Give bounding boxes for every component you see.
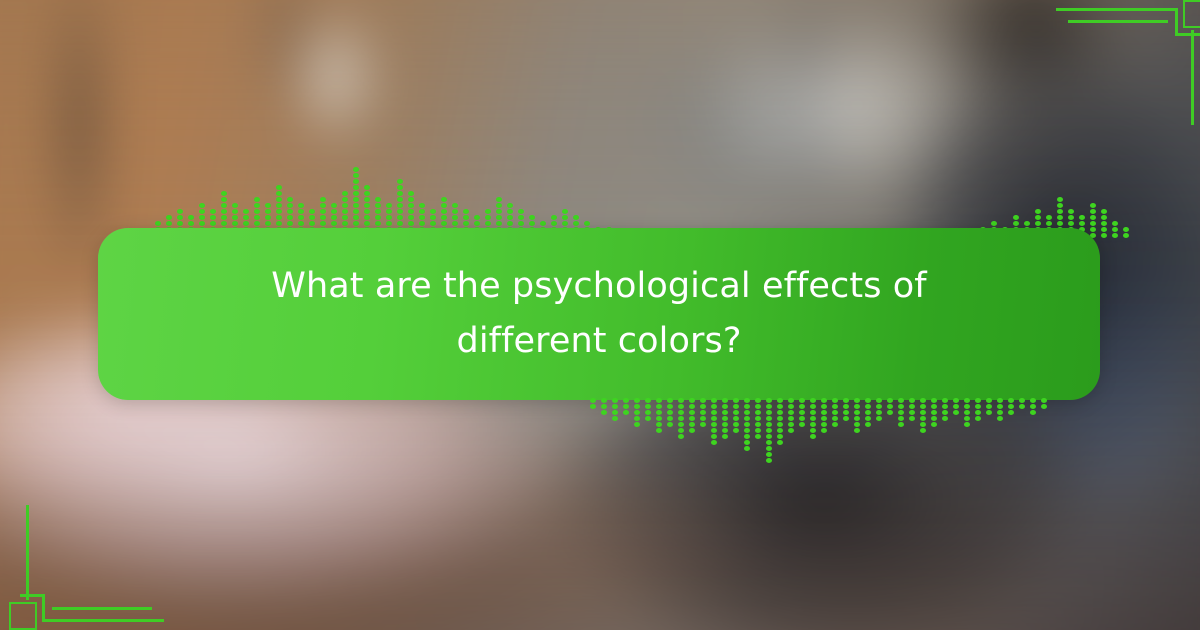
waveform-bar: [722, 398, 728, 439]
waveform-dot: [634, 404, 640, 409]
waveform-dot: [221, 191, 227, 196]
waveform-dot: [733, 428, 739, 433]
waveform-dot: [667, 416, 673, 421]
waveform-dot: [843, 416, 849, 421]
waveform-dot: [689, 398, 695, 403]
waveform-dot: [711, 410, 717, 415]
waveform-dot: [876, 416, 882, 421]
waveform-dot: [232, 215, 238, 220]
waveform-dot: [997, 398, 1003, 403]
waveform-bar: [700, 398, 706, 427]
waveform-dot: [722, 434, 728, 439]
waveform-dot: [507, 209, 513, 214]
waveform-dot: [689, 416, 695, 421]
waveform-dot: [920, 416, 926, 421]
waveform-dot: [551, 221, 557, 226]
waveform-dot: [656, 398, 662, 403]
waveform-dot: [656, 422, 662, 427]
waveform-dot: [408, 209, 414, 214]
waveform-dot: [1123, 227, 1129, 232]
waveform-dot: [700, 416, 706, 421]
waveform-dot: [243, 215, 249, 220]
waveform-dot: [221, 215, 227, 220]
waveform-bar: [744, 398, 750, 451]
waveform-dot: [964, 416, 970, 421]
waveform-dot: [645, 404, 651, 409]
waveform-dot: [887, 410, 893, 415]
waveform-dot: [496, 221, 502, 226]
waveform-dot: [1019, 404, 1025, 409]
waveform-dot: [843, 398, 849, 403]
waveform-dot: [397, 203, 403, 208]
waveform-dot: [788, 398, 794, 403]
waveform-dot: [221, 197, 227, 202]
waveform-dot: [419, 215, 425, 220]
waveform-dot: [953, 410, 959, 415]
waveform-dot: [590, 398, 596, 403]
waveform-bar: [964, 398, 970, 427]
waveform-dot: [375, 203, 381, 208]
waveform-dot: [645, 398, 651, 403]
waveform-bar: [942, 398, 948, 421]
waveform-dot: [408, 221, 414, 226]
waveform-dot: [276, 185, 282, 190]
waveform-dot: [854, 404, 860, 409]
waveform-dot: [942, 416, 948, 421]
waveform-dot: [777, 398, 783, 403]
waveform-dot: [1035, 209, 1041, 214]
waveform-dot: [287, 197, 293, 202]
waveform-dot: [766, 404, 772, 409]
waveform-dot: [612, 398, 618, 403]
waveform-dot: [364, 209, 370, 214]
waveform-dot: [975, 416, 981, 421]
waveform-dot: [931, 404, 937, 409]
waveform-dot: [540, 221, 546, 226]
waveform-dot: [342, 221, 348, 226]
waveform-dot: [711, 434, 717, 439]
waveform-dot: [1008, 404, 1014, 409]
waveform-dot: [909, 404, 915, 409]
waveform-bar: [689, 398, 695, 433]
waveform-dot: [166, 221, 172, 226]
waveform-bar: [887, 398, 893, 415]
waveform-bar: [733, 398, 739, 433]
waveform-dot: [397, 197, 403, 202]
waveform-dot: [810, 422, 816, 427]
waveform-dot: [898, 404, 904, 409]
waveform-dot: [931, 422, 937, 427]
waveform-dot: [645, 410, 651, 415]
waveform-dot: [755, 428, 761, 433]
waveform-dot: [733, 410, 739, 415]
waveform-dot: [210, 221, 216, 226]
waveform-dot: [755, 398, 761, 403]
waveform-dot: [1101, 233, 1107, 238]
waveform-dot: [920, 404, 926, 409]
waveform-dot: [210, 215, 216, 220]
waveform-dot: [832, 422, 838, 427]
question-text: What are the psychological effects of di…: [199, 259, 999, 370]
waveform-dot: [562, 209, 568, 214]
waveform-dot: [964, 398, 970, 403]
waveform-bar: [1101, 209, 1107, 238]
waveform-dot: [887, 398, 893, 403]
waveform-dot: [1101, 227, 1107, 232]
waveform-dot: [601, 404, 607, 409]
waveform-dot: [777, 404, 783, 409]
waveform-dot: [397, 185, 403, 190]
waveform-dot: [997, 404, 1003, 409]
waveform-dot: [342, 209, 348, 214]
waveform-dot: [342, 215, 348, 220]
waveform-dot: [287, 215, 293, 220]
waveform-dot: [529, 221, 535, 226]
waveform-dot: [364, 191, 370, 196]
waveform-dot: [562, 221, 568, 226]
waveform-dot: [755, 416, 761, 421]
waveform-dot: [1068, 221, 1074, 226]
waveform-dot: [744, 422, 750, 427]
waveform-dot: [689, 422, 695, 427]
waveform-dot: [1030, 404, 1036, 409]
waveform-dot: [711, 416, 717, 421]
waveform-dot: [573, 215, 579, 220]
waveform-dot: [810, 398, 816, 403]
waveform-dot: [689, 404, 695, 409]
waveform-dot: [810, 404, 816, 409]
waveform-bar: [1123, 227, 1129, 238]
waveform-dot: [744, 446, 750, 451]
waveform-dot: [942, 404, 948, 409]
waveform-dot: [276, 197, 282, 202]
waveform-dot: [612, 416, 618, 421]
waveform-dot: [232, 203, 238, 208]
waveform-dot: [766, 434, 772, 439]
waveform-dot: [265, 215, 271, 220]
waveform-dot: [711, 440, 717, 445]
waveform-dot: [766, 410, 772, 415]
waveform-dot: [678, 422, 684, 427]
waveform-dot: [876, 404, 882, 409]
waveform-dot: [199, 209, 205, 214]
waveform-dot: [254, 221, 260, 226]
waveform-dot: [1057, 203, 1063, 208]
waveform-dot: [254, 215, 260, 220]
waveform-dot: [777, 440, 783, 445]
waveform-dot: [810, 434, 816, 439]
waveform-dot: [678, 434, 684, 439]
waveform-dot: [320, 197, 326, 202]
waveform-dot: [1101, 209, 1107, 214]
waveform-dot: [667, 422, 673, 427]
waveform-dot: [854, 422, 860, 427]
waveform-dot: [419, 209, 425, 214]
audio-waveform-top: [155, 143, 612, 238]
waveform-dot: [799, 422, 805, 427]
waveform-dot: [419, 203, 425, 208]
waveform-dot: [766, 446, 772, 451]
waveform-dot: [199, 221, 205, 226]
waveform-dot: [375, 221, 381, 226]
waveform-dot: [221, 209, 227, 214]
waveform-dot: [265, 221, 271, 226]
waveform-dot: [353, 209, 359, 214]
waveform-dot: [623, 404, 629, 409]
waveform-dot: [441, 209, 447, 214]
question-card[interactable]: What are the psychological effects of di…: [98, 228, 1100, 400]
waveform-dot: [744, 410, 750, 415]
waveform-dot: [920, 410, 926, 415]
waveform-bar: [920, 398, 926, 433]
waveform-dot: [1019, 398, 1025, 403]
waveform-dot: [931, 398, 937, 403]
waveform-bar: [1019, 398, 1025, 409]
waveform-dot: [1046, 221, 1052, 226]
waveform-dot: [1057, 221, 1063, 226]
waveform-bar: [1030, 398, 1036, 415]
waveform-dot: [656, 416, 662, 421]
waveform-bar: [909, 398, 915, 421]
waveform-dot: [788, 416, 794, 421]
waveform-dot: [309, 221, 315, 226]
waveform-dot: [656, 410, 662, 415]
waveform-dot: [276, 221, 282, 226]
waveform-dot: [612, 410, 618, 415]
waveform-dot: [265, 209, 271, 214]
waveform-bar: [711, 398, 717, 445]
waveform-dot: [678, 404, 684, 409]
waveform-bar: [843, 398, 849, 421]
waveform-dot: [309, 215, 315, 220]
waveform-dot: [865, 422, 871, 427]
waveform-dot: [766, 452, 772, 457]
waveform-dot: [986, 404, 992, 409]
waveform-dot: [276, 209, 282, 214]
waveform-dot: [463, 215, 469, 220]
waveform-dot: [744, 398, 750, 403]
waveform-bar: [590, 398, 596, 409]
waveform-dot: [1057, 197, 1063, 202]
waveform-bar: [1008, 398, 1014, 415]
waveform-bar: [898, 398, 904, 427]
waveform-dot: [188, 221, 194, 226]
waveform-dot: [810, 410, 816, 415]
waveform-dot: [733, 416, 739, 421]
waveform-dot: [430, 209, 436, 214]
waveform-dot: [507, 215, 513, 220]
waveform-dot: [832, 398, 838, 403]
waveform-dot: [276, 203, 282, 208]
waveform-dot: [397, 179, 403, 184]
waveform-dot: [463, 209, 469, 214]
waveform-dot: [986, 410, 992, 415]
waveform-dot: [744, 428, 750, 433]
waveform-dot: [485, 209, 491, 214]
waveform-bar: [656, 398, 662, 433]
waveform-dot: [364, 203, 370, 208]
waveform-bar: [975, 398, 981, 421]
waveform-dot: [1057, 215, 1063, 220]
waveform-dot: [254, 197, 260, 202]
waveform-dot: [353, 197, 359, 202]
waveform-dot: [573, 221, 579, 226]
waveform-dot: [920, 398, 926, 403]
waveform-dot: [799, 398, 805, 403]
waveform-dot: [408, 197, 414, 202]
waveform-dot: [353, 203, 359, 208]
waveform-dot: [942, 398, 948, 403]
waveform-dot: [375, 209, 381, 214]
waveform-dot: [353, 167, 359, 172]
waveform-dot: [1090, 215, 1096, 220]
waveform-dot: [331, 215, 337, 220]
waveform-dot: [375, 197, 381, 202]
waveform-dot: [810, 428, 816, 433]
waveform-dot: [320, 209, 326, 214]
waveform-dot: [408, 191, 414, 196]
waveform-dot: [1112, 221, 1118, 226]
waveform-dot: [601, 410, 607, 415]
waveform-dot: [766, 440, 772, 445]
waveform-dot: [221, 203, 227, 208]
waveform-dot: [364, 185, 370, 190]
waveform-dot: [177, 221, 183, 226]
waveform-dot: [766, 428, 772, 433]
waveform-dot: [1101, 215, 1107, 220]
waveform-dot: [1030, 398, 1036, 403]
waveform-dot: [722, 428, 728, 433]
waveform-bar: [997, 398, 1003, 421]
waveform-bar: [1112, 221, 1118, 238]
waveform-bar: [777, 398, 783, 445]
waveform-dot: [397, 221, 403, 226]
waveform-dot: [810, 416, 816, 421]
waveform-dot: [441, 221, 447, 226]
waveform-dot: [353, 185, 359, 190]
waveform-dot: [975, 410, 981, 415]
waveform-dot: [975, 398, 981, 403]
waveform-dot: [353, 179, 359, 184]
waveform-dot: [942, 410, 948, 415]
waveform-dot: [821, 398, 827, 403]
waveform-dot: [1008, 398, 1014, 403]
waveform-dot: [386, 203, 392, 208]
waveform-dot: [518, 209, 524, 214]
waveform-dot: [744, 434, 750, 439]
waveform-dot: [441, 197, 447, 202]
waveform-dot: [419, 221, 425, 226]
waveform-dot: [408, 215, 414, 220]
waveform-dot: [254, 209, 260, 214]
waveform-dot: [623, 410, 629, 415]
waveform-bar: [645, 398, 651, 421]
waveform-dot: [755, 404, 761, 409]
waveform-dot: [799, 404, 805, 409]
waveform-dot: [1057, 209, 1063, 214]
waveform-dot: [854, 410, 860, 415]
waveform-dot: [408, 203, 414, 208]
waveform-dot: [452, 215, 458, 220]
waveform-dot: [188, 215, 194, 220]
waveform-dot: [199, 215, 205, 220]
waveform-bar: [623, 398, 629, 415]
waveform-dot: [1030, 410, 1036, 415]
waveform-dot: [221, 221, 227, 226]
waveform-dot: [755, 434, 761, 439]
waveform-bar: [865, 398, 871, 427]
waveform-dot: [287, 209, 293, 214]
waveform-dot: [777, 416, 783, 421]
waveform-bar: [1041, 398, 1047, 409]
waveform-dot: [711, 422, 717, 427]
waveform-dot: [298, 203, 304, 208]
waveform-dot: [667, 398, 673, 403]
waveform-dot: [777, 410, 783, 415]
waveform-dot: [832, 404, 838, 409]
waveform-dot: [298, 215, 304, 220]
waveform-dot: [766, 416, 772, 421]
waveform-dot: [1068, 209, 1074, 214]
waveform-dot: [876, 398, 882, 403]
waveform-dot: [909, 416, 915, 421]
waveform-dot: [634, 422, 640, 427]
waveform-dot: [788, 410, 794, 415]
waveform-bar: [799, 398, 805, 427]
waveform-bar: [678, 398, 684, 439]
waveform-dot: [678, 398, 684, 403]
waveform-dot: [997, 410, 1003, 415]
waveform-dot: [1041, 404, 1047, 409]
waveform-dot: [397, 191, 403, 196]
waveform-dot: [1112, 233, 1118, 238]
waveform-dot: [342, 191, 348, 196]
waveform-dot: [931, 410, 937, 415]
waveform-dot: [518, 215, 524, 220]
waveform-dot: [309, 209, 315, 214]
waveform-dot: [766, 398, 772, 403]
waveform-dot: [1123, 233, 1129, 238]
waveform-dot: [920, 422, 926, 427]
waveform-bar: [601, 398, 607, 415]
waveform-dot: [1035, 221, 1041, 226]
waveform-bar: [832, 398, 838, 427]
waveform-dot: [744, 440, 750, 445]
waveform-dot: [298, 221, 304, 226]
waveform-dot: [1024, 221, 1030, 226]
waveform-bar: [854, 398, 860, 433]
waveform-dot: [898, 410, 904, 415]
waveform-dot: [518, 221, 524, 226]
waveform-dot: [386, 209, 392, 214]
waveform-dot: [788, 404, 794, 409]
waveform-bar: [788, 398, 794, 433]
waveform-dot: [656, 404, 662, 409]
waveform-dot: [507, 221, 513, 226]
waveform-dot: [832, 416, 838, 421]
waveform-dot: [722, 416, 728, 421]
waveform-dot: [364, 215, 370, 220]
waveform-dot: [986, 398, 992, 403]
waveform-dot: [991, 221, 997, 226]
waveform-bar: [810, 398, 816, 439]
waveform-dot: [766, 458, 772, 463]
waveform-dot: [155, 221, 161, 226]
waveform-dot: [276, 215, 282, 220]
waveform-dot: [700, 422, 706, 427]
waveform-bar: [1090, 203, 1096, 238]
waveform-dot: [722, 398, 728, 403]
